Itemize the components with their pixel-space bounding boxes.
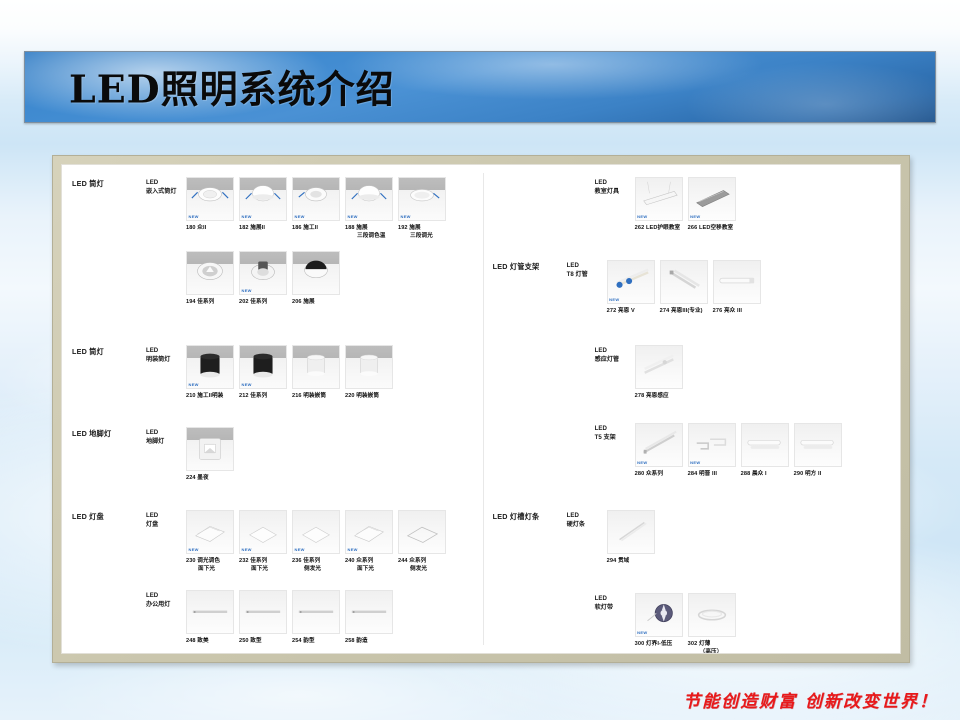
- product-caption: 278 亮恩感应: [635, 392, 683, 400]
- subgroup-title-cn: 软灯带: [595, 604, 635, 613]
- product-number: 240: [345, 558, 356, 564]
- product-name: 韵造: [356, 638, 367, 644]
- product-caption: 302 灯薄（高压）: [688, 640, 736, 654]
- product-caption: 276 亮众 III: [713, 307, 761, 315]
- product-number: 216: [292, 393, 303, 399]
- product-name: 明装嵌筒: [303, 393, 326, 399]
- subgroup-title-en: LED: [595, 179, 635, 188]
- product-caption: 258 韵造: [345, 637, 393, 645]
- product-thumbnail: [292, 590, 340, 634]
- product-item[interactable]: NEW202 佳系列: [239, 251, 287, 306]
- product-caption: 240 众系列面下光: [345, 557, 393, 573]
- product-thumbnail: NEW: [239, 510, 287, 554]
- product-item[interactable]: 274 亮恩III(专业): [660, 260, 708, 315]
- subgroup-title-en: LED: [146, 429, 186, 438]
- catalog-column-right: LED教室灯具NEW262 LED护眼教室NEW266 LED空移教室LED 灯…: [483, 165, 900, 653]
- group-title: LED 灯盘: [72, 510, 146, 522]
- downlight-black-icon: [293, 252, 339, 294]
- footlight-square-icon: [187, 428, 233, 470]
- group-title: [521, 177, 595, 179]
- product-row: 248 致美250 致型254 韵型258 韵造: [186, 590, 393, 645]
- subgroup-title: LED嵌入式筒灯: [146, 177, 186, 196]
- tube-sensor-icon: [636, 346, 682, 388]
- product-item[interactable]: 248 致美: [186, 590, 234, 645]
- product-number: 236: [292, 558, 303, 564]
- product-item[interactable]: 194 佳系列: [186, 251, 234, 306]
- product-item[interactable]: NEW210 施工II明装: [186, 345, 234, 400]
- product-caption: 272 亮恩 V: [607, 307, 655, 315]
- product-thumbnail: [292, 345, 340, 389]
- product-item[interactable]: 220 明装嵌筒: [345, 345, 393, 400]
- product-item[interactable]: NEW186 施工II: [292, 177, 340, 240]
- subgroup-title: LED软灯带: [595, 593, 635, 612]
- product-number: 280: [635, 471, 646, 477]
- product-name: 施工II: [303, 225, 318, 231]
- product-name: 亮众 III: [724, 308, 742, 314]
- product-item[interactable]: 216 明装嵌筒: [292, 345, 340, 400]
- product-thumbnail: [186, 427, 234, 471]
- subgroup-title-en: LED: [146, 592, 186, 601]
- product-group: LED 灯盘LED灯盘NEW230 调光调色面下光NEW232 佳系列面下光NE…: [72, 510, 446, 573]
- product-thumbnail: NEW: [635, 177, 683, 221]
- subgroup-title-cn: 教室灯具: [595, 188, 635, 197]
- subgroup-title: LED感应灯管: [595, 345, 635, 364]
- product-subname: 三段调色温: [345, 232, 393, 240]
- subgroup-title-en: LED: [146, 347, 186, 356]
- new-badge: NEW: [348, 214, 358, 219]
- group-title: [72, 590, 146, 592]
- product-name: 施展: [356, 225, 367, 231]
- product-group: LED 筒灯LED明装筒灯NEW210 施工II明装NEW212 佳系列216 …: [72, 345, 393, 400]
- product-row: 294 贯域: [607, 510, 655, 565]
- product-item[interactable]: NEW236 佳系列侧发光: [292, 510, 340, 573]
- product-number: 272: [607, 308, 618, 314]
- product-caption: 186 施工II: [292, 224, 340, 232]
- product-number: 194: [186, 299, 197, 305]
- panel-edge-icon: [399, 511, 445, 553]
- product-name: LED护眼教室: [646, 225, 680, 231]
- subgroup-title-cn: 感应灯管: [595, 356, 635, 365]
- product-name: 众系列: [409, 558, 426, 564]
- product-thumbnail: NEW: [186, 510, 234, 554]
- subgroup-title: LEDT8 灯管: [567, 260, 607, 279]
- subgroup-title-cn: 办公用灯: [146, 601, 186, 610]
- product-thumbnail: [635, 345, 683, 389]
- product-name: 致型: [250, 638, 261, 644]
- product-number: 250: [239, 638, 250, 644]
- product-row: NEW180 众IINEW182 施展IINEW186 施工IINEW188 施…: [186, 177, 446, 240]
- product-name: 明方 II: [805, 471, 821, 477]
- product-name: 致美: [197, 638, 208, 644]
- product-caption: 250 致型: [239, 637, 287, 645]
- product-caption: 262 LED护眼教室: [635, 224, 683, 232]
- product-number: 210: [186, 393, 197, 399]
- product-item[interactable]: NEW230 调光调色面下光: [186, 510, 234, 573]
- product-number: 254: [292, 638, 303, 644]
- product-name: 亮恩 V: [618, 308, 635, 314]
- product-row: NEW262 LED护眼教室NEW266 LED空移教室: [635, 177, 736, 232]
- product-caption: 290 明方 II: [794, 470, 842, 478]
- product-item[interactable]: 288 晨众 I: [741, 423, 789, 478]
- product-row: 278 亮恩感应: [635, 345, 683, 400]
- product-number: 244: [398, 558, 409, 564]
- product-name: 佳系列: [250, 393, 267, 399]
- strip-coil-icon: [689, 594, 735, 636]
- product-number: 276: [713, 308, 724, 314]
- subgroup-title-cn: 明装筒灯: [146, 356, 186, 365]
- subgroup-title-cn: 灯盘: [146, 521, 186, 530]
- product-name: 韵型: [303, 638, 314, 644]
- product-item[interactable]: 290 明方 II: [794, 423, 842, 478]
- product-number: 232: [239, 558, 250, 564]
- product-row: 194 佳系列NEW202 佳系列206 施展: [186, 251, 340, 306]
- product-number: 248: [186, 638, 197, 644]
- group-title: LED 灯槽灯条: [493, 510, 567, 522]
- product-number: 188: [345, 225, 356, 231]
- product-thumbnail: [398, 510, 446, 554]
- group-title: LED 灯管支架: [493, 260, 567, 272]
- subgroup-title: LED教室灯具: [595, 177, 635, 196]
- product-name: 施展II: [250, 225, 265, 231]
- product-group: LED 筒灯LED嵌入式筒灯NEW180 众IINEW182 施展IINEW18…: [72, 177, 446, 240]
- t5-single-icon: [795, 424, 841, 466]
- product-name: 贯域: [618, 558, 629, 564]
- product-caption: 180 众II: [186, 224, 234, 232]
- product-number: 180: [186, 225, 197, 231]
- catalog-frame: LED 筒灯LED嵌入式筒灯NEW180 众IINEW182 施展IINEW18…: [52, 155, 910, 663]
- product-thumbnail: [741, 423, 789, 467]
- subgroup-title-en: LED: [595, 425, 635, 434]
- product-name: 明装嵌筒: [356, 393, 379, 399]
- product-caption: 216 明装嵌筒: [292, 392, 340, 400]
- subgroup-title-cn: T8 灯管: [567, 271, 607, 280]
- product-number: 220: [345, 393, 356, 399]
- product-name: 众系列: [646, 471, 663, 477]
- product-name: 亮恩感应: [646, 393, 669, 399]
- product-thumbnail: NEW: [186, 345, 234, 389]
- subgroup-title-en: LED: [595, 595, 635, 604]
- product-thumbnail: NEW: [688, 177, 736, 221]
- product-thumbnail: [186, 251, 234, 295]
- office-linear-icon: [187, 591, 233, 633]
- product-thumbnail: [607, 510, 655, 554]
- product-thumbnail: NEW: [635, 423, 683, 467]
- product-thumbnail: [239, 590, 287, 634]
- product-number: 206: [292, 299, 303, 305]
- catalog-sheet: LED 筒灯LED嵌入式筒灯NEW180 众IINEW182 施展IINEW18…: [61, 164, 901, 654]
- subgroup-title-en: LED: [567, 262, 607, 271]
- product-group: 194 佳系列NEW202 佳系列206 施展: [186, 251, 340, 306]
- product-thumbnail: NEW: [292, 177, 340, 221]
- product-item[interactable]: 294 贯域: [607, 510, 655, 565]
- product-name: 施工II明装: [197, 393, 223, 399]
- product-item[interactable]: NEW262 LED护眼教室: [635, 177, 683, 232]
- product-caption: 224 墨夜: [186, 474, 234, 482]
- new-badge: NEW: [189, 382, 199, 387]
- product-item[interactable]: NEW192 施展三段调光: [398, 177, 446, 240]
- product-item[interactable]: 254 韵型: [292, 590, 340, 645]
- subgroup-title-cn: 嵌入式筒灯: [146, 188, 186, 197]
- product-caption: 182 施展II: [239, 224, 287, 232]
- product-number: 302: [688, 641, 699, 647]
- product-row: NEW300 灯界I-低压302 灯薄（高压）: [635, 593, 736, 654]
- office-linear-icon: [240, 591, 286, 633]
- product-subname: 侧发光: [398, 565, 446, 573]
- product-number: 284: [688, 471, 699, 477]
- product-number: 202: [239, 299, 250, 305]
- product-caption: 212 佳系列: [239, 392, 287, 400]
- downlight-reflector-icon: [187, 252, 233, 294]
- product-caption: 188 施展三段调色温: [345, 224, 393, 240]
- product-item[interactable]: NEW300 灯界I-低压: [635, 593, 683, 654]
- new-badge: NEW: [295, 214, 305, 219]
- group-title: [521, 345, 595, 347]
- product-name: 灯界I-低压: [646, 641, 672, 647]
- product-item[interactable]: 244 众系列侧发光: [398, 510, 446, 573]
- product-subname: 侧发光: [292, 565, 340, 573]
- product-group: LED软灯带NEW300 灯界I-低压302 灯薄（高压）: [521, 593, 736, 654]
- new-badge: NEW: [401, 214, 411, 219]
- product-thumbnail: NEW: [186, 177, 234, 221]
- product-name: 佳系列: [250, 558, 267, 564]
- product-group: LED教室灯具NEW262 LED护眼教室NEW266 LED空移教室: [521, 177, 736, 232]
- subgroup-title-en: LED: [567, 512, 607, 521]
- product-caption: 288 晨众 I: [741, 470, 789, 478]
- tube-single-icon: [714, 261, 760, 303]
- product-thumbnail: [345, 345, 393, 389]
- product-thumbnail: NEW: [239, 177, 287, 221]
- product-thumbnail: NEW: [688, 423, 736, 467]
- product-caption: 266 LED空移教室: [688, 224, 736, 232]
- product-item[interactable]: NEW272 亮恩 V: [607, 260, 655, 315]
- product-caption: 192 施展三段调光: [398, 224, 446, 240]
- new-badge: NEW: [348, 547, 358, 552]
- footer-slogan: 节能创造财富 创新改变世界！: [683, 687, 938, 712]
- product-thumbnail: NEW: [607, 260, 655, 304]
- product-row: NEW230 调光调色面下光NEW232 佳系列面下光NEW236 佳系列侧发光…: [186, 510, 446, 573]
- group-title: [521, 423, 595, 425]
- product-item[interactable]: 224 墨夜: [186, 427, 234, 482]
- product-item[interactable]: NEW266 LED空移教室: [688, 177, 736, 232]
- page-title: LED照明系统介绍: [69, 58, 395, 113]
- product-caption: 284 明晋 III: [688, 470, 736, 478]
- product-name: 佳系列: [250, 299, 267, 305]
- product-name: 灯薄: [699, 641, 710, 647]
- product-name: LED空移教室: [699, 225, 733, 231]
- new-badge: NEW: [242, 214, 252, 219]
- new-badge: NEW: [189, 547, 199, 552]
- product-thumbnail: NEW: [398, 177, 446, 221]
- product-subname: 三段调光: [398, 232, 446, 240]
- product-thumbnail: NEW: [635, 593, 683, 637]
- product-group: LED 灯管支架LEDT8 灯管NEW272 亮恩 V274 亮恩III(专业)…: [493, 260, 761, 315]
- product-item[interactable]: 206 施展: [292, 251, 340, 306]
- product-name: 墨夜: [197, 475, 208, 481]
- subgroup-title: LED地脚灯: [146, 427, 186, 446]
- title-banner: LED照明系统介绍: [24, 51, 936, 123]
- product-name: 晨众 I: [752, 471, 767, 477]
- product-row: NEW272 亮恩 V274 亮恩III(专业)276 亮众 III: [607, 260, 761, 315]
- product-caption: 254 韵型: [292, 637, 340, 645]
- product-thumbnail: NEW: [345, 510, 393, 554]
- product-caption: 220 明装嵌筒: [345, 392, 393, 400]
- new-badge: NEW: [295, 547, 305, 552]
- new-badge: NEW: [637, 630, 647, 635]
- product-caption: 274 亮恩III(专业): [660, 307, 708, 315]
- product-name: 众系列: [356, 558, 373, 564]
- product-row: NEW210 施工II明装NEW212 佳系列216 明装嵌筒220 明装嵌筒: [186, 345, 393, 400]
- new-badge: NEW: [637, 214, 647, 219]
- product-item[interactable]: NEW284 明晋 III: [688, 423, 736, 478]
- product-item[interactable]: 278 亮恩感应: [635, 345, 683, 400]
- product-item[interactable]: NEW240 众系列面下光: [345, 510, 393, 573]
- product-number: 262: [635, 225, 646, 231]
- product-thumbnail: [660, 260, 708, 304]
- subgroup-title: LED灯盘: [146, 510, 186, 529]
- product-number: 294: [607, 558, 618, 564]
- product-number: 274: [660, 308, 671, 314]
- product-number: 266: [688, 225, 699, 231]
- product-thumbnail: [688, 593, 736, 637]
- product-item[interactable]: NEW188 施展三段调色温: [345, 177, 393, 240]
- product-thumbnail: NEW: [345, 177, 393, 221]
- subgroup-title-en: LED: [146, 512, 186, 521]
- product-group: LED 地脚灯LED地脚灯224 墨夜: [72, 427, 234, 482]
- product-thumbnail: NEW: [292, 510, 340, 554]
- product-caption: 294 贯域: [607, 557, 655, 565]
- subgroup-title-en: LED: [595, 347, 635, 356]
- product-item[interactable]: NEW212 佳系列: [239, 345, 287, 400]
- product-number: 258: [345, 638, 356, 644]
- product-group: LED办公用灯248 致美250 致型254 韵型258 韵造: [72, 590, 393, 645]
- product-item[interactable]: 258 韵造: [345, 590, 393, 645]
- subgroup-title: LED硬灯条: [567, 510, 607, 529]
- product-name: 施展: [409, 225, 420, 231]
- product-number: 300: [635, 641, 646, 647]
- product-number: 288: [741, 471, 752, 477]
- product-row: 224 墨夜: [186, 427, 234, 482]
- group-title: LED 筒灯: [72, 345, 146, 357]
- product-number: 192: [398, 225, 409, 231]
- subgroup-title-en: LED: [146, 179, 186, 188]
- subgroup-title-cn: 硬灯条: [567, 521, 607, 530]
- new-badge: NEW: [189, 214, 199, 219]
- product-caption: 210 施工II明装: [186, 392, 234, 400]
- t5-single-icon: [742, 424, 788, 466]
- product-caption: 248 致美: [186, 637, 234, 645]
- surface-cylinder-light-icon: [293, 346, 339, 388]
- product-item[interactable]: NEW232 佳系列面下光: [239, 510, 287, 573]
- group-title: [521, 593, 595, 595]
- product-name: 佳系列: [303, 558, 320, 564]
- product-caption: 202 佳系列: [239, 298, 287, 306]
- subgroup-title-cn: T5 支架: [595, 434, 635, 443]
- group-title: LED 筒灯: [72, 177, 146, 189]
- product-caption: 194 佳系列: [186, 298, 234, 306]
- product-row: NEW280 众系列NEW284 明晋 III288 晨众 I290 明方 II: [635, 423, 842, 478]
- product-number: 212: [239, 393, 250, 399]
- product-number: 186: [292, 225, 303, 231]
- product-item[interactable]: 276 亮众 III: [713, 260, 761, 315]
- product-name: 众II: [197, 225, 206, 231]
- surface-cylinder-light-icon: [346, 346, 392, 388]
- product-thumbnail: [713, 260, 761, 304]
- product-caption: 300 灯界I-低压: [635, 640, 683, 648]
- new-badge: NEW: [609, 297, 619, 302]
- product-caption: 232 佳系列面下光: [239, 557, 287, 573]
- product-caption: 230 调光调色面下光: [186, 557, 234, 573]
- product-name: 调光调色: [197, 558, 220, 564]
- product-thumbnail: [794, 423, 842, 467]
- product-caption: 280 众系列: [635, 470, 683, 478]
- product-group: LED感应灯管278 亮恩感应: [521, 345, 683, 400]
- product-group: LED 灯槽灯条LED硬灯条294 贯域: [493, 510, 655, 565]
- subgroup-title: LED办公用灯: [146, 590, 186, 609]
- product-subname: （高压）: [688, 648, 736, 654]
- new-badge: NEW: [242, 547, 252, 552]
- product-subname: 面下光: [186, 565, 234, 573]
- product-name: 明晋 III: [699, 471, 717, 477]
- product-number: 182: [239, 225, 250, 231]
- office-linear-icon: [293, 591, 339, 633]
- new-badge: NEW: [242, 382, 252, 387]
- product-group: LEDT5 支架NEW280 众系列NEW284 明晋 III288 晨众 I2…: [521, 423, 842, 478]
- product-thumbnail: [186, 590, 234, 634]
- product-caption: 236 佳系列侧发光: [292, 557, 340, 573]
- product-thumbnail: [292, 251, 340, 295]
- new-badge: NEW: [690, 460, 700, 465]
- tube-pair-icon: [661, 261, 707, 303]
- product-caption: 206 施展: [292, 298, 340, 306]
- product-number: 278: [635, 393, 646, 399]
- product-item[interactable]: NEW180 众II: [186, 177, 234, 240]
- office-linear-icon: [346, 591, 392, 633]
- new-badge: NEW: [637, 460, 647, 465]
- product-item[interactable]: NEW280 众系列: [635, 423, 683, 478]
- product-subname: 面下光: [345, 565, 393, 573]
- product-number: 224: [186, 475, 197, 481]
- new-badge: NEW: [690, 214, 700, 219]
- product-thumbnail: [345, 590, 393, 634]
- product-thumbnail: NEW: [239, 251, 287, 295]
- product-item[interactable]: 302 灯薄（高压）: [688, 593, 736, 654]
- product-name: 亮恩III(专业): [671, 308, 703, 314]
- catalog-column-left: LED 筒灯LED嵌入式筒灯NEW180 众IINEW182 施展IINEW18…: [62, 165, 483, 653]
- product-number: 290: [794, 471, 805, 477]
- rigid-strip-icon: [608, 511, 654, 553]
- subgroup-title: LED明装筒灯: [146, 345, 186, 364]
- subgroup-title: LEDT5 支架: [595, 423, 635, 442]
- product-subname: 面下光: [239, 565, 287, 573]
- product-name: 施展: [303, 299, 314, 305]
- product-item[interactable]: NEW182 施展II: [239, 177, 287, 240]
- subgroup-title-cn: 地脚灯: [146, 438, 186, 447]
- product-thumbnail: NEW: [239, 345, 287, 389]
- product-item[interactable]: 250 致型: [239, 590, 287, 645]
- product-name: 佳系列: [197, 299, 214, 305]
- new-badge: NEW: [242, 288, 252, 293]
- product-number: 230: [186, 558, 197, 564]
- product-caption: 244 众系列侧发光: [398, 557, 446, 573]
- group-title: LED 地脚灯: [72, 427, 146, 439]
